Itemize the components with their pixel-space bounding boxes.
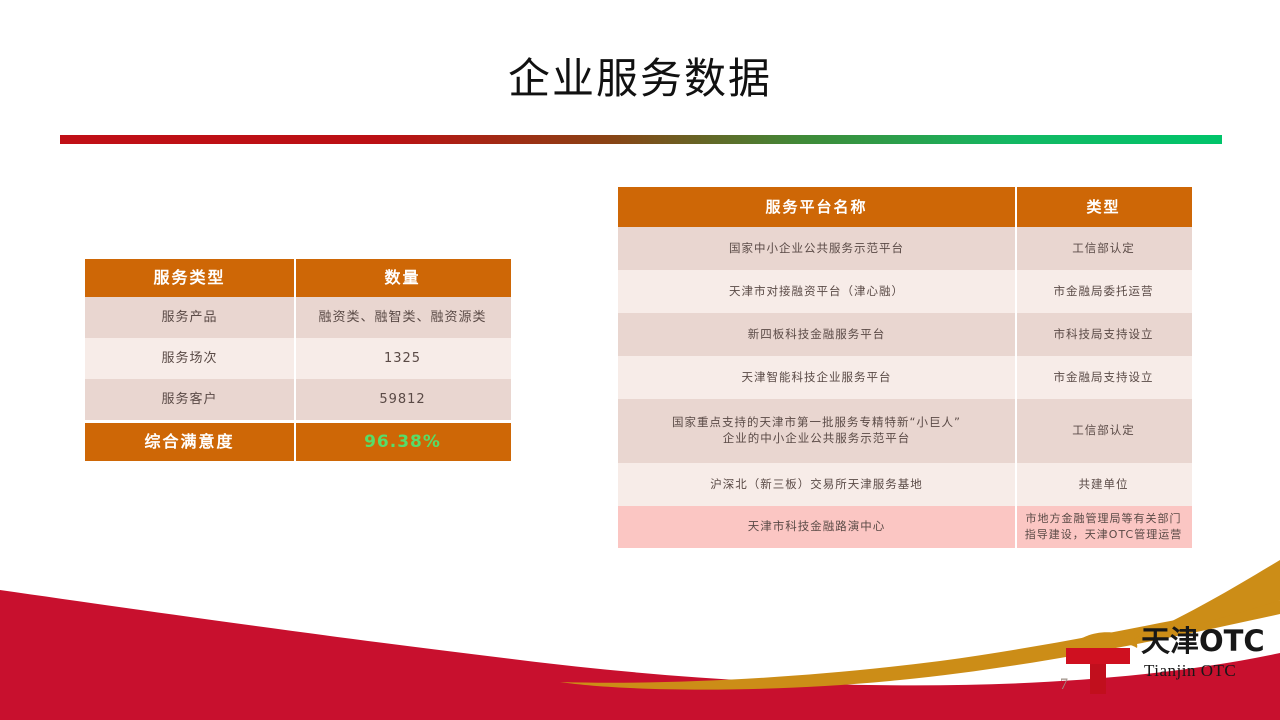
platform-type-line-2: 指导建设，天津OTC管理运营	[1021, 527, 1186, 544]
service-type-table: 服务类型 数量 服务产品 融资类、融智类、融资源类 服务场次 1325 服务客户…	[85, 259, 511, 461]
logo-name-en: Tianjin OTC	[1144, 662, 1236, 679]
service-platform-table: 服务平台名称 类型 国家中小企业公共服务示范平台 工信部认定 天津市对接融资平台…	[618, 187, 1192, 548]
table-row: 天津智能科技企业服务平台 市金融局支持设立	[618, 356, 1192, 399]
cell-platform-type: 市地方金融管理局等有关部门 指导建设，天津OTC管理运营	[1015, 506, 1192, 548]
table-row: 服务产品 融资类、融智类、融资源类	[85, 297, 511, 338]
cell-service-type: 服务客户	[85, 379, 294, 420]
cell-platform-name: 天津市科技金融路演中心	[618, 506, 1015, 548]
table-row: 国家重点支持的天津市第一批服务专精特新“小巨人” 企业的中小企业公共服务示范平台…	[618, 399, 1192, 463]
cell-service-type: 服务产品	[85, 297, 294, 338]
cell-platform-type: 工信部认定	[1015, 227, 1192, 270]
table-row-highlighted: 天津市科技金融路演中心 市地方金融管理局等有关部门 指导建设，天津OTC管理运营	[618, 506, 1192, 548]
cell-platform-name: 沪深北（新三板）交易所天津服务基地	[618, 463, 1015, 506]
cell-satisfaction-value: 96.38%	[294, 423, 511, 461]
platform-name-line-2: 企业的中小企业公共服务示范平台	[624, 431, 1009, 447]
logo-name-cn: 天津OTC	[1141, 627, 1265, 656]
cell-platform-name: 天津智能科技企业服务平台	[618, 356, 1015, 399]
brand-logo: 天津OTC Tianjin OTC	[1062, 618, 1276, 698]
cell-quantity: 1325	[294, 338, 511, 379]
title-divider-rule	[60, 135, 1222, 144]
cell-platform-type: 市金融局委托运营	[1015, 270, 1192, 313]
logo-red-glyph-shadow	[1090, 664, 1106, 694]
slide-canvas: 企业服务数据 服务类型 数量 服务产品 融资类、融智类、融资源类 服务场次 13…	[0, 0, 1280, 720]
header-service-type: 服务类型	[85, 259, 294, 297]
table-header-row: 服务类型 数量	[85, 259, 511, 297]
table-header-row: 服务平台名称 类型	[618, 187, 1192, 227]
cell-platform-type: 共建单位	[1015, 463, 1192, 506]
cell-platform-name: 国家中小企业公共服务示范平台	[618, 227, 1015, 270]
header-platform-type: 类型	[1015, 187, 1192, 227]
cell-platform-type: 市科技局支持设立	[1015, 313, 1192, 356]
header-platform-name: 服务平台名称	[618, 187, 1015, 227]
page-number: 7	[1060, 676, 1068, 694]
platform-type-line-1: 市地方金融管理局等有关部门	[1021, 511, 1186, 528]
cell-satisfaction-label: 综合满意度	[85, 423, 294, 461]
table-row: 服务场次 1325	[85, 338, 511, 379]
cell-platform-type: 工信部认定	[1015, 399, 1192, 463]
page-title: 企业服务数据	[0, 58, 1280, 100]
cell-quantity: 59812	[294, 379, 511, 420]
cell-quantity: 融资类、融智类、融资源类	[294, 297, 511, 338]
table-row: 新四板科技金融服务平台 市科技局支持设立	[618, 313, 1192, 356]
cell-platform-type: 市金融局支持设立	[1015, 356, 1192, 399]
satisfaction-percent: 96.38%	[364, 432, 441, 452]
cell-platform-name: 新四板科技金融服务平台	[618, 313, 1015, 356]
cell-service-type: 服务场次	[85, 338, 294, 379]
table-row: 沪深北（新三板）交易所天津服务基地 共建单位	[618, 463, 1192, 506]
cell-platform-name: 天津市对接融资平台（津心融）	[618, 270, 1015, 313]
platform-name-line-1: 国家重点支持的天津市第一批服务专精特新“小巨人”	[624, 415, 1009, 431]
cell-platform-name: 国家重点支持的天津市第一批服务专精特新“小巨人” 企业的中小企业公共服务示范平台	[618, 399, 1015, 463]
header-quantity: 数量	[294, 259, 511, 297]
table-footer-row: 综合满意度 96.38%	[85, 423, 511, 461]
table-row: 国家中小企业公共服务示范平台 工信部认定	[618, 227, 1192, 270]
table-row: 天津市对接融资平台（津心融） 市金融局委托运营	[618, 270, 1192, 313]
table-row: 服务客户 59812	[85, 379, 511, 420]
